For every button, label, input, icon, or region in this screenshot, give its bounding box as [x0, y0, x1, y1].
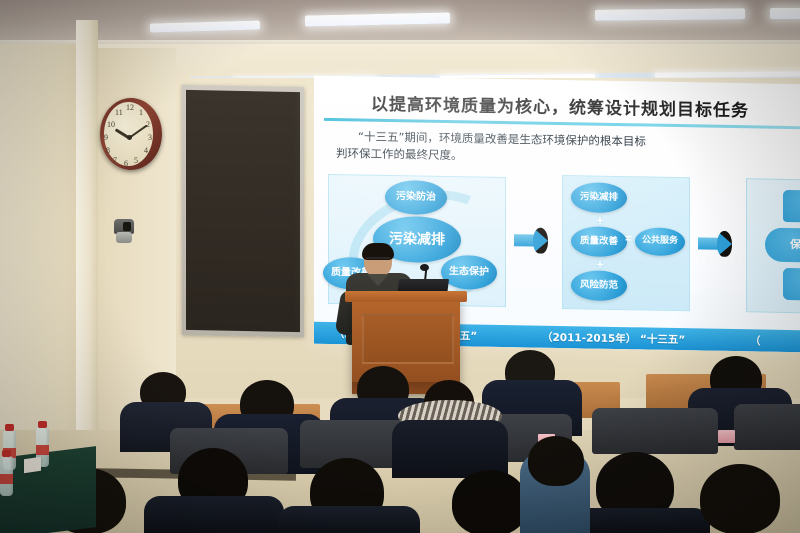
bottle-cap — [38, 421, 47, 428]
bottle-cap — [5, 424, 14, 431]
diagram-stage-2: 污染减排 + 质量改善 + 风险防范 = 公共服务 — [562, 175, 690, 311]
clock-numeral: 6 — [124, 159, 128, 168]
acoustic-panel — [182, 85, 304, 337]
clock-numeral: 10 — [107, 120, 115, 129]
clock-numeral: 11 — [115, 108, 123, 117]
camera-lens — [123, 222, 131, 231]
ceiling-light-panel — [595, 8, 745, 21]
audience-head — [452, 470, 528, 533]
stage2-bubble-2: 质量改善 — [571, 226, 627, 257]
stage2-label-3: 风险防范 — [580, 280, 618, 291]
stage1-top-label: 污染防治 — [396, 192, 436, 203]
timeline-label-4: （ — [750, 333, 761, 348]
clock-numeral: 3 — [148, 133, 152, 142]
clock-numeral: 4 — [144, 146, 148, 155]
arrow-head — [533, 228, 548, 254]
stage3-fan: 污染防治 保护修复 风险管控 — [753, 187, 800, 301]
arrow-head — [717, 231, 732, 257]
microphone-head — [420, 264, 429, 271]
slide-title: 以提高环境质量为核心，统筹设计规划目标任务 — [371, 89, 749, 121]
audience-head — [528, 436, 584, 486]
stage2-bubble-3: 风险防范 — [571, 270, 627, 301]
chair-back — [592, 408, 718, 454]
stage1-right-label: 生态保护 — [449, 267, 489, 278]
name-card — [718, 430, 735, 443]
timeline-label-3: “十三五” — [640, 331, 685, 347]
clock-numeral: 7 — [113, 156, 117, 165]
stage2-service-label: 公共服务 — [642, 237, 678, 247]
presenter-glasses — [366, 257, 390, 265]
podium-front-panel — [362, 314, 454, 364]
arrow-tail — [698, 237, 718, 249]
stage3-segment-top: 污染防治 — [783, 190, 800, 223]
podium-top-surface — [345, 291, 467, 302]
audience-head — [700, 464, 780, 533]
clock-numeral: 9 — [104, 133, 108, 142]
stage2-label-1: 污染减排 — [580, 192, 618, 203]
chair-back — [734, 404, 800, 450]
stage3-segment-bottom: 风险管控 — [783, 268, 800, 301]
bottle-cap — [2, 450, 11, 457]
stage2-label-2: 质量改善 — [580, 236, 618, 247]
ceiling-light-panel — [770, 8, 800, 19]
stage1-bubble-top: 污染防治 — [385, 180, 447, 215]
slide-body-text: “十三五”期间，环境质量改善是生态环境保护的根本目标 判环保工作的最终尺度。 — [336, 128, 800, 170]
security-camera — [113, 219, 135, 245]
water-bottle — [0, 456, 13, 496]
clock-numeral: 8 — [106, 146, 110, 155]
timeline-label-2: （2011-2015年） — [542, 329, 636, 346]
audience-torso — [144, 496, 284, 533]
clock-face: 12 1 2 3 4 5 6 7 8 9 10 11 — [104, 102, 153, 166]
bottle-label — [36, 445, 49, 455]
stage2-bubble-1: 污染减排 — [571, 182, 627, 213]
conference-room-photo: 12 1 2 3 4 5 6 7 8 9 10 11 以提高环境质量为核心 — [0, 0, 800, 533]
diagram-stage-3: 污染防治 保护修复 风险管控 — [746, 178, 800, 314]
wall-clock: 12 1 2 3 4 5 6 7 8 9 10 11 — [100, 98, 162, 170]
arrow-tail — [514, 234, 534, 246]
clock-numeral: 5 — [134, 156, 138, 165]
stage-arrow-2-icon — [698, 230, 732, 257]
clock-numeral: 12 — [126, 103, 134, 112]
clock-center-pin — [127, 135, 132, 140]
audience-torso — [278, 506, 420, 533]
stage2-bubble-service: 公共服务 — [635, 227, 685, 256]
stage3-middle-label: 保护修复 — [790, 239, 800, 251]
stage3-segment-middle: 保护修复 — [765, 228, 800, 264]
clock-numeral: 1 — [139, 108, 143, 117]
acoustic-panel-surface — [186, 90, 300, 332]
camera-mount — [116, 232, 132, 243]
bottle-label — [0, 474, 13, 484]
place-card — [24, 457, 41, 473]
stage-arrow-1-icon — [514, 227, 548, 254]
stage2-plus-1: + — [593, 213, 607, 228]
stage2-plus-2: + — [593, 257, 607, 272]
